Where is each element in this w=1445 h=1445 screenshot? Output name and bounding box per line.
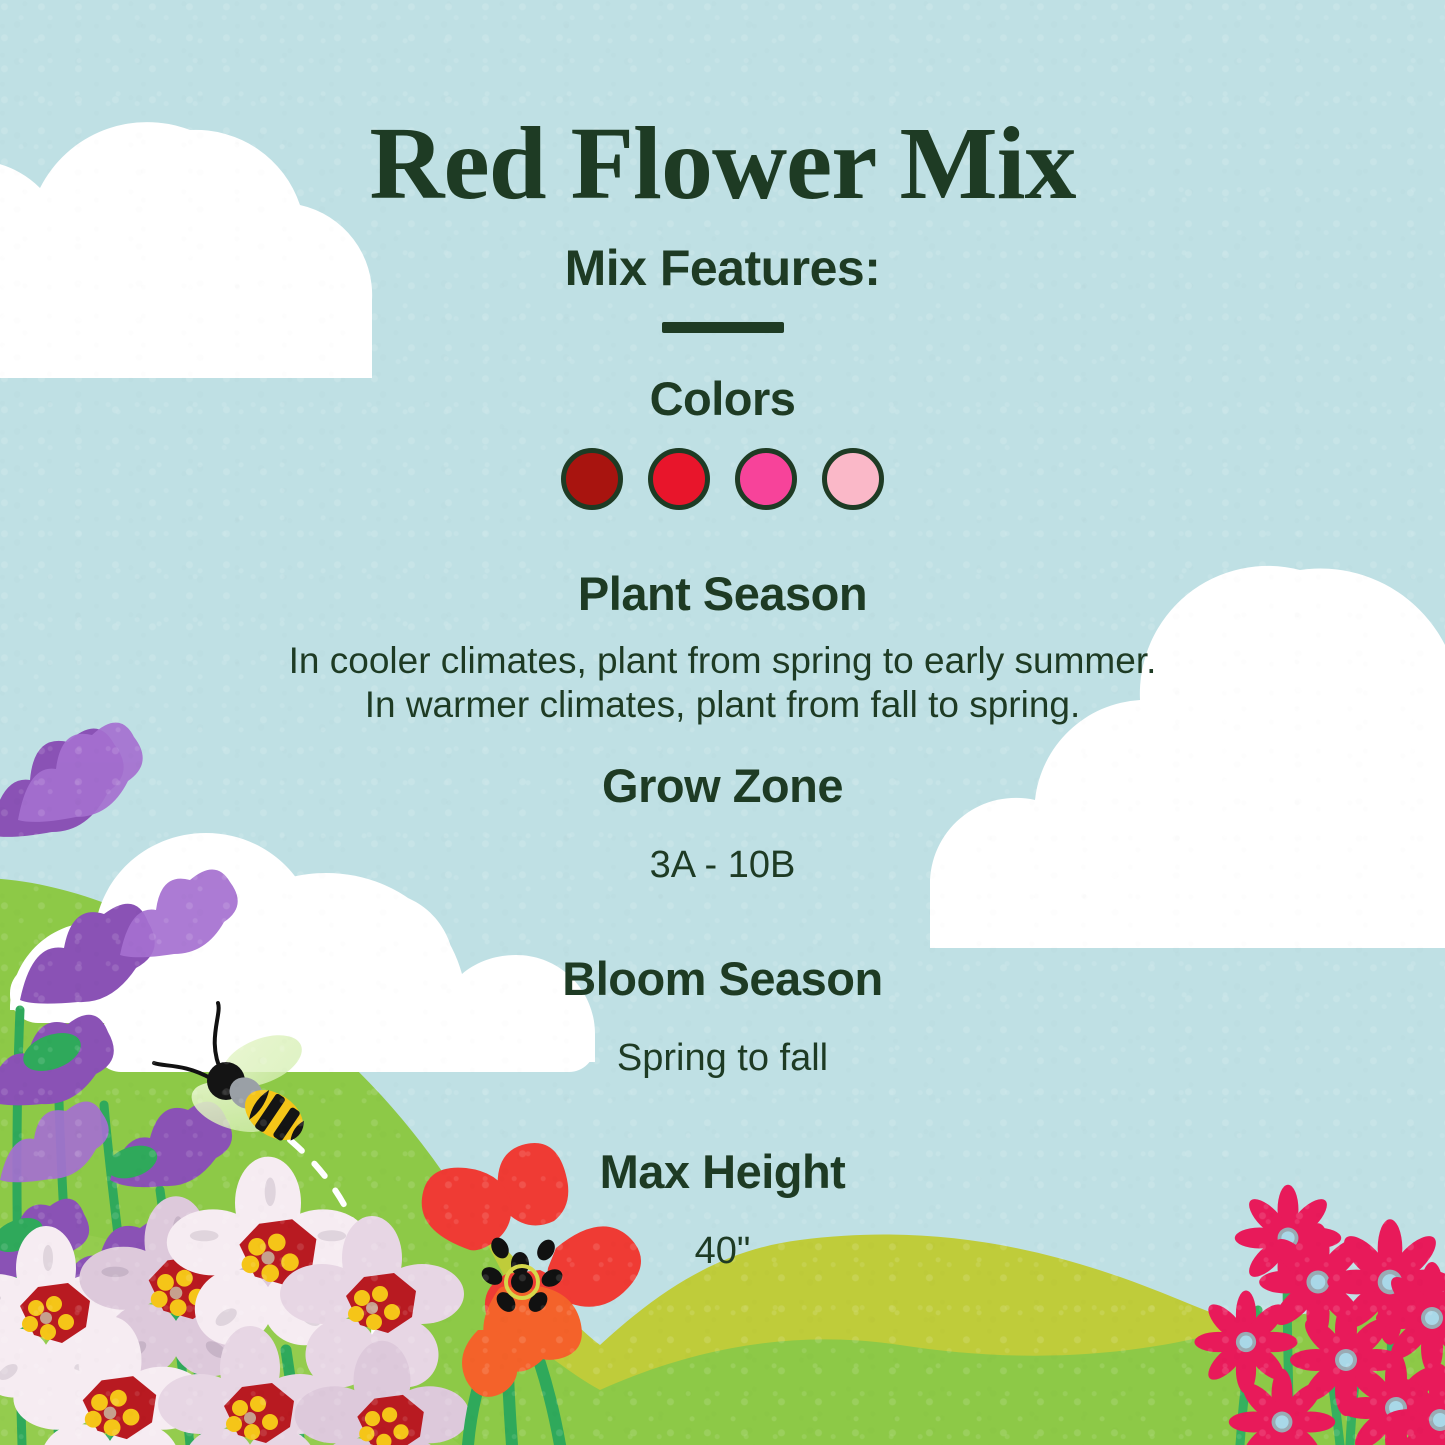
grow-zone-heading: Grow Zone — [0, 762, 1445, 809]
divider-rule — [662, 322, 784, 333]
plant-season-line-1: In cooler climates, plant from spring to… — [0, 639, 1445, 683]
plant-season-heading: Plant Season — [0, 570, 1445, 617]
seed-packet-infographic: Red Flower Mix Mix Features: Colors Plan… — [0, 0, 1445, 1445]
plant-season-line-2: In warmer climates, plant from fall to s… — [0, 683, 1445, 727]
colors-heading: Colors — [0, 375, 1445, 422]
max-height-heading: Max Height — [0, 1148, 1445, 1195]
content-layer: Red Flower Mix Mix Features: Colors Plan… — [0, 0, 1445, 1445]
plant-season-body: In cooler climates, plant from spring to… — [0, 639, 1445, 726]
page-title: Red Flower Mix — [0, 112, 1445, 216]
swatch-light-pink — [822, 448, 884, 510]
bloom-season-value: Spring to fall — [0, 1036, 1445, 1081]
bloom-season-heading: Bloom Season — [0, 955, 1445, 1002]
swatch-dark-red — [561, 448, 623, 510]
swatch-hot-pink — [735, 448, 797, 510]
max-height-value: 40" — [0, 1229, 1445, 1274]
grow-zone-value: 3A - 10B — [0, 843, 1445, 888]
mix-features-subtitle: Mix Features: — [0, 243, 1445, 293]
color-swatch-row — [0, 448, 1445, 510]
swatch-bright-red — [648, 448, 710, 510]
